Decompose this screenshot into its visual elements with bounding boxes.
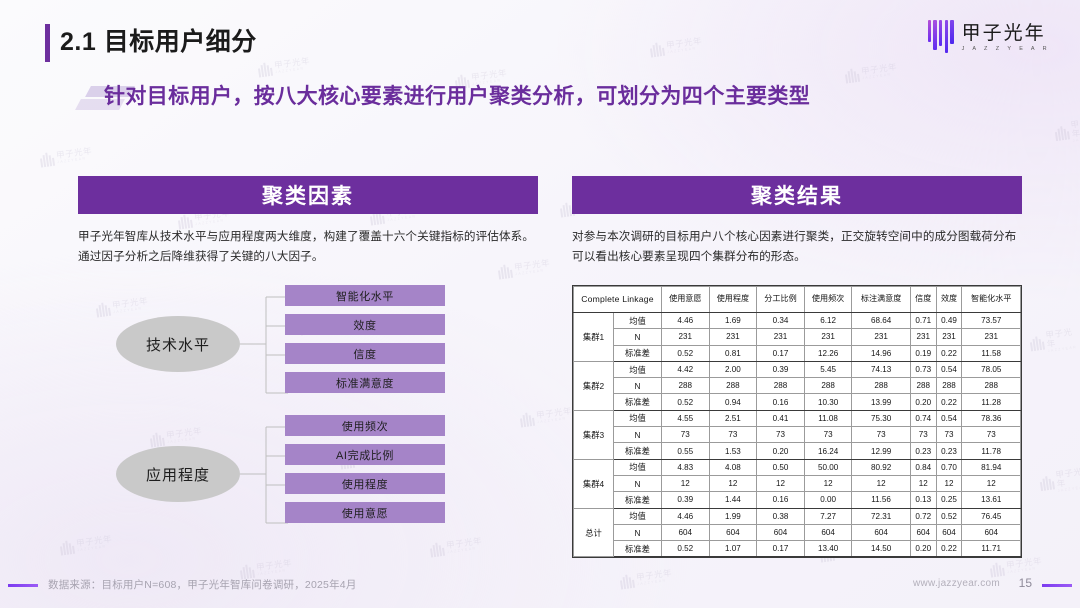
table-row: N7373737373737373 (574, 427, 1021, 443)
factor-group-application: 应用程度 使用频次 AI完成比例 使用程度 使用意愿 (78, 415, 538, 535)
table-corner-label: Complete Linkage (574, 287, 662, 313)
table-cell: 12.99 (852, 443, 910, 459)
table-header-row: Complete Linkage 使用意愿使用程度分工比例使用频次标注满意度信度… (574, 287, 1021, 313)
table-cell: 4.42 (662, 361, 710, 377)
table-cell: 0.23 (910, 443, 936, 459)
table-row: N288288288288288288288288 (574, 378, 1021, 394)
table-cell: 78.05 (962, 361, 1021, 377)
table-cell: 0.17 (757, 541, 805, 557)
table-cell: 1.69 (709, 313, 757, 329)
table-cell: 4.55 (662, 410, 710, 426)
table-cell: 14.50 (852, 541, 910, 557)
table-cell: 4.08 (709, 459, 757, 475)
title-accent-bar (45, 24, 50, 62)
table-cell: 50.00 (804, 459, 852, 475)
table-column-header: 标注满意度 (852, 287, 910, 313)
table-column-header: 信度 (910, 287, 936, 313)
table-header: Complete Linkage 使用意愿使用程度分工比例使用频次标注满意度信度… (574, 287, 1021, 313)
factor-list-application: 使用频次 AI完成比例 使用程度 使用意愿 (285, 415, 445, 523)
table-cell: 0.70 (936, 459, 962, 475)
table-cell: 13.99 (852, 394, 910, 410)
table-stat-label: 标准差 (614, 394, 662, 410)
table-cell: 11.71 (962, 541, 1021, 557)
table-stat-label: 均值 (614, 459, 662, 475)
table-stat-label: 均值 (614, 410, 662, 426)
panel-cluster-results: 聚类结果 对参与本次调研的目标用户八个核心因素进行聚类，正交旋转空间中的成分图载… (572, 176, 1022, 268)
table-cell: 0.16 (757, 492, 805, 508)
table-cell: 78.36 (962, 410, 1021, 426)
table-row: 集群1均值4.461.690.346.1268.640.710.4973.57 (574, 313, 1021, 329)
table-stat-label: N (614, 427, 662, 443)
table-cell: 4.46 (662, 313, 710, 329)
factor-box: 使用意愿 (285, 502, 445, 523)
table-cell: 68.64 (852, 313, 910, 329)
table-cell: 288 (804, 378, 852, 394)
page-footer: 数据来源：目标用户N=608，甲子光年智库问卷调研，2025年4月 www.ja… (0, 562, 1080, 608)
brand-text: 甲子光年 J A Z Z Y E A R (962, 24, 1050, 53)
table-cell: 0.54 (936, 361, 962, 377)
factor-box: 智能化水平 (285, 285, 445, 306)
table-cell: 0.81 (709, 345, 757, 361)
table-row: 集群2均值4.422.000.395.4574.130.730.5478.05 (574, 361, 1021, 377)
table-body: 集群1均值4.461.690.346.1268.640.710.4973.57N… (574, 313, 1021, 557)
table-cell: 0.20 (910, 394, 936, 410)
table-cell: 11.28 (962, 394, 1021, 410)
table-row: 标准差0.520.940.1610.3013.990.200.2211.28 (574, 394, 1021, 410)
table-cell: 0.50 (757, 459, 805, 475)
table-cell: 288 (936, 378, 962, 394)
table-cell: 80.92 (852, 459, 910, 475)
table-cell: 10.30 (804, 394, 852, 410)
factor-group-label-tech: 技术水平 (116, 316, 240, 372)
table-row: 标准差0.391.440.160.0011.560.130.2513.61 (574, 492, 1021, 508)
table-stat-label: 均值 (614, 313, 662, 329)
page-header: 2.1 目标用户细分 针对目标用户，按八大核心要素进行用户聚类分析，可划分为四个… (0, 0, 1080, 140)
table-cell: 0.20 (910, 541, 936, 557)
table-column-header: 使用程度 (709, 287, 757, 313)
table-cell: 11.08 (804, 410, 852, 426)
brand-logo: 甲子光年 J A Z Z Y E A R (928, 20, 1050, 56)
table-stat-label: N (614, 329, 662, 345)
table-stat-label: N (614, 378, 662, 394)
footer-dash-right-icon (1042, 584, 1072, 587)
table-cell: 0.73 (910, 361, 936, 377)
table-cell: 11.58 (962, 345, 1021, 361)
table-cell: 0.52 (662, 541, 710, 557)
factor-box: 效度 (285, 314, 445, 335)
table-cell: 7.27 (804, 508, 852, 524)
table-cell: 0.49 (936, 313, 962, 329)
table-cell: 604 (662, 524, 710, 540)
table-cell: 81.94 (962, 459, 1021, 475)
table-cell: 73 (910, 427, 936, 443)
table-cell: 288 (662, 378, 710, 394)
table-cell: 0.25 (936, 492, 962, 508)
table-cell: 73 (804, 427, 852, 443)
table-cell: 0.17 (757, 345, 805, 361)
factor-box: AI完成比例 (285, 444, 445, 465)
table-group-label: 集群4 (574, 459, 614, 508)
table-cell: 0.55 (662, 443, 710, 459)
table-stat-label: 标准差 (614, 345, 662, 361)
table-cell: 288 (962, 378, 1021, 394)
table-cell: 0.94 (709, 394, 757, 410)
table-column-header: 智能化水平 (962, 287, 1021, 313)
table-cell: 604 (852, 524, 910, 540)
table-stat-label: 均值 (614, 361, 662, 377)
table-cell: 12 (936, 475, 962, 491)
watermark-logo: 甲子光年JAZZYEAR (1039, 467, 1080, 496)
table-cell: 0.22 (936, 541, 962, 557)
factor-group-label-application: 应用程度 (116, 446, 240, 502)
table-column-header: 使用意愿 (662, 287, 710, 313)
table-cell: 75.30 (852, 410, 910, 426)
table-cell: 11.56 (852, 492, 910, 508)
watermark-logo: 甲子光年JAZZYEAR (1029, 327, 1080, 356)
table-cell: 231 (709, 329, 757, 345)
panel-right-title: 聚类结果 (572, 176, 1022, 214)
table-row: 集群3均值4.552.510.4111.0875.300.740.5478.36 (574, 410, 1021, 426)
table-row: 集群4均值4.834.080.5050.0080.920.840.7081.94 (574, 459, 1021, 475)
factor-diagram: 技术水平 智能化水平 效度 信度 标准满意度 应用程度 使用频次 A (78, 285, 538, 545)
table-cell: 0.71 (910, 313, 936, 329)
table-cell: 74.13 (852, 361, 910, 377)
table-cell: 0.39 (662, 492, 710, 508)
table-cell: 604 (962, 524, 1021, 540)
factor-group-tech: 技术水平 智能化水平 效度 信度 标准满意度 (78, 285, 538, 405)
table-group-label: 集群1 (574, 313, 614, 362)
table-cell: 1.53 (709, 443, 757, 459)
table-row: 标准差0.551.530.2016.2412.990.230.2311.78 (574, 443, 1021, 459)
table-column-header: 效度 (936, 287, 962, 313)
table-cell: 0.00 (804, 492, 852, 508)
table-cell: 12 (852, 475, 910, 491)
table-cell: 0.16 (757, 394, 805, 410)
table-cell: 73 (662, 427, 710, 443)
factor-box: 信度 (285, 343, 445, 364)
table-cell: 13.61 (962, 492, 1021, 508)
table-cell: 288 (709, 378, 757, 394)
table-cell: 231 (804, 329, 852, 345)
table-cell: 76.45 (962, 508, 1021, 524)
brand-name: 甲子光年 (962, 24, 1050, 44)
table-cell: 604 (910, 524, 936, 540)
table-cell: 2.00 (709, 361, 757, 377)
table-cell: 604 (804, 524, 852, 540)
cluster-results-table-container: Complete Linkage 使用意愿使用程度分工比例使用频次标注满意度信度… (572, 285, 1022, 558)
table-cell: 288 (852, 378, 910, 394)
table-cell: 0.84 (910, 459, 936, 475)
table-cell: 231 (962, 329, 1021, 345)
table-cell: 1.99 (709, 508, 757, 524)
table-cell: 72.31 (852, 508, 910, 524)
table-stat-label: 标准差 (614, 492, 662, 508)
table-cell: 73.57 (962, 313, 1021, 329)
table-stat-label: 标准差 (614, 443, 662, 459)
table-cell: 288 (757, 378, 805, 394)
table-cell: 0.54 (936, 410, 962, 426)
table-cell: 4.46 (662, 508, 710, 524)
panel-right-description: 对参与本次调研的目标用户八个核心因素进行聚类，正交旋转空间中的成分图载荷分布可以… (572, 227, 1022, 268)
table-cell: 4.83 (662, 459, 710, 475)
table-group-label: 总计 (574, 508, 614, 557)
table-cell: 12 (910, 475, 936, 491)
table-row: 总计均值4.461.990.387.2772.310.720.5276.45 (574, 508, 1021, 524)
table-cell: 288 (910, 378, 936, 394)
table-cell: 604 (709, 524, 757, 540)
table-row: N1212121212121212 (574, 475, 1021, 491)
table-row: N231231231231231231231231 (574, 329, 1021, 345)
table-cell: 16.24 (804, 443, 852, 459)
footer-page-number: 15 (1019, 576, 1032, 590)
panel-left-description: 甲子光年智库从技术水平与应用程度两大维度，构建了覆盖十六个关键指标的评估体系。通… (78, 227, 538, 268)
table-cell: 12.26 (804, 345, 852, 361)
table-cell: 0.38 (757, 508, 805, 524)
table-group-label: 集群3 (574, 410, 614, 459)
table-cell: 0.39 (757, 361, 805, 377)
table-cell: 73 (936, 427, 962, 443)
page-subtitle: 针对目标用户，按八大核心要素进行用户聚类分析，可划分为四个主要类型 (104, 80, 810, 110)
table-cell: 12 (757, 475, 805, 491)
table-column-header: 使用频次 (804, 287, 852, 313)
table-cell: 14.96 (852, 345, 910, 361)
table-cell: 0.22 (936, 394, 962, 410)
footer-dash-left-icon (8, 584, 38, 587)
table-cell: 12 (962, 475, 1021, 491)
table-cell: 73 (757, 427, 805, 443)
table-stat-label: 均值 (614, 508, 662, 524)
table-cell: 231 (662, 329, 710, 345)
table-cell: 13.40 (804, 541, 852, 557)
table-cell: 0.22 (936, 345, 962, 361)
table-cell: 11.78 (962, 443, 1021, 459)
table-cell: 0.20 (757, 443, 805, 459)
table-cell: 231 (910, 329, 936, 345)
table-row: 标准差0.520.810.1712.2614.960.190.2211.58 (574, 345, 1021, 361)
factor-list-tech: 智能化水平 效度 信度 标准满意度 (285, 285, 445, 393)
factor-box: 使用程度 (285, 473, 445, 494)
panel-cluster-factors: 聚类因素 甲子光年智库从技术水平与应用程度两大维度，构建了覆盖十六个关键指标的评… (78, 176, 538, 268)
table-cell: 0.74 (910, 410, 936, 426)
watermark-logo: 甲子光年JAZZYEAR (39, 146, 93, 167)
table-stat-label: N (614, 475, 662, 491)
table-row: N604604604604604604604604 (574, 524, 1021, 540)
table-cell: 1.44 (709, 492, 757, 508)
table-cell: 0.41 (757, 410, 805, 426)
table-column-header: 分工比例 (757, 287, 805, 313)
brand-latin: J A Z Z Y E A R (962, 46, 1050, 52)
factor-box: 使用频次 (285, 415, 445, 436)
table-cell: 231 (852, 329, 910, 345)
table-cell: 2.51 (709, 410, 757, 426)
table-cell: 231 (757, 329, 805, 345)
panel-left-title: 聚类因素 (78, 176, 538, 214)
table-stat-label: 标准差 (614, 541, 662, 557)
footer-website-link[interactable]: www.jazzyear.com (913, 578, 1000, 589)
page-title: 2.1 目标用户细分 (60, 23, 257, 62)
table-cell: 0.34 (757, 313, 805, 329)
table-cell: 0.52 (936, 508, 962, 524)
table-cell: 0.72 (910, 508, 936, 524)
table-cell: 73 (962, 427, 1021, 443)
brand-bars-icon (928, 20, 954, 56)
table-stat-label: N (614, 524, 662, 540)
table-cell: 604 (936, 524, 962, 540)
table-cell: 12 (662, 475, 710, 491)
table-cell: 73 (709, 427, 757, 443)
table-cell: 12 (709, 475, 757, 491)
table-cell: 0.52 (662, 345, 710, 361)
table-cell: 0.52 (662, 394, 710, 410)
table-cell: 12 (804, 475, 852, 491)
table-cell: 1.07 (709, 541, 757, 557)
table-group-label: 集群2 (574, 361, 614, 410)
table-cell: 231 (936, 329, 962, 345)
cluster-results-table: Complete Linkage 使用意愿使用程度分工比例使用频次标注满意度信度… (573, 286, 1021, 557)
table-cell: 5.45 (804, 361, 852, 377)
table-cell: 6.12 (804, 313, 852, 329)
table-cell: 0.13 (910, 492, 936, 508)
table-cell: 0.19 (910, 345, 936, 361)
table-row: 标准差0.521.070.1713.4014.500.200.2211.71 (574, 541, 1021, 557)
footer-source-text: 数据来源：目标用户N=608，甲子光年智库问卷调研，2025年4月 (48, 577, 357, 592)
table-cell: 73 (852, 427, 910, 443)
factor-box: 标准满意度 (285, 372, 445, 393)
table-cell: 604 (757, 524, 805, 540)
table-cell: 0.23 (936, 443, 962, 459)
